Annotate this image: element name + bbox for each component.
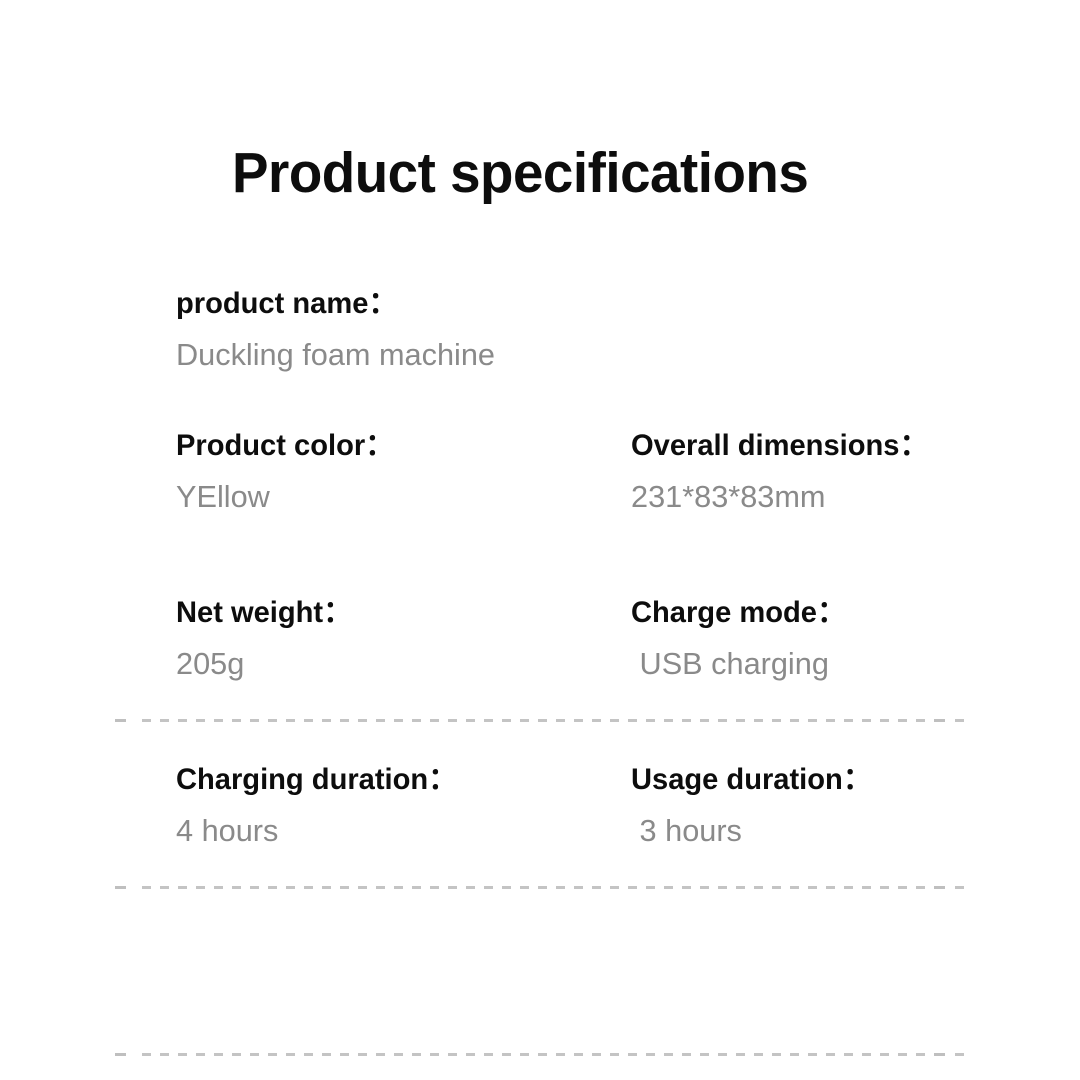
spec-label-text: product name: [176, 287, 368, 320]
divider-dash-lead: [115, 1053, 126, 1056]
spec-value: Duckling foam machine: [176, 339, 622, 370]
label-colon: ：: [817, 596, 844, 629]
divider-dash-main: [142, 1053, 932, 1056]
spec-row: Charging duration： 4 hours Usage duratio…: [0, 765, 1080, 932]
spec-value: YEllow: [176, 481, 622, 512]
spec-label-text: Usage duration: [631, 763, 843, 796]
label-colon: ：: [365, 429, 392, 462]
spec-cell-charging-duration: Charging duration： 4 hours: [176, 765, 626, 846]
spec-label-text: Product color: [176, 429, 365, 462]
divider-dash-tail-a: [934, 1053, 945, 1056]
spec-row: Net weight： 205g Charge mode： USB chargi…: [0, 598, 1080, 765]
label-colon: ：: [843, 763, 870, 796]
product-specifications-page: Product specifications product name： Duc…: [0, 0, 1080, 1080]
spec-value: 205g: [176, 648, 622, 679]
row-divider: [0, 1053, 1080, 1056]
label-colon: ：: [899, 429, 926, 462]
spec-value: 231*83*83mm: [631, 481, 1047, 512]
spec-row: product name： Duckling foam machine: [0, 289, 1080, 431]
label-colon: ：: [368, 287, 395, 320]
spec-label: Overall dimensions：: [631, 431, 1038, 461]
spec-label-text: Net weight: [176, 596, 323, 629]
spec-label: Product color：: [176, 431, 613, 461]
spec-value: 4 hours: [176, 815, 622, 846]
specifications-table: product name： Duckling foam machine Prod…: [0, 289, 1080, 932]
spec-cell-charge-mode: Charge mode： USB charging: [631, 598, 1051, 679]
spec-value: USB charging: [631, 648, 1047, 679]
spec-label-text: Charging duration: [176, 763, 428, 796]
spec-cell-product-name: product name： Duckling foam machine: [176, 289, 626, 370]
label-colon: ：: [428, 763, 455, 796]
spec-label: Charge mode：: [631, 598, 1038, 628]
spec-label-text: Overall dimensions: [631, 429, 899, 462]
spec-label: Usage duration：: [631, 765, 1038, 795]
page-title: Product specifications: [232, 142, 808, 205]
spec-row: Product color： YEllow Overall dimensions…: [0, 431, 1080, 598]
label-colon: ：: [323, 596, 350, 629]
spec-value: 3 hours: [631, 815, 1047, 846]
divider-dash-tail-b: [955, 1053, 964, 1056]
spec-label: Charging duration：: [176, 765, 613, 795]
spec-cell-overall-dimensions: Overall dimensions： 231*83*83mm: [631, 431, 1051, 512]
spec-cell-product-color: Product color： YEllow: [176, 431, 626, 512]
spec-label: Net weight：: [176, 598, 613, 628]
spec-label-text: Charge mode: [631, 596, 817, 629]
spec-label: product name：: [176, 289, 613, 319]
spec-cell-net-weight: Net weight： 205g: [176, 598, 626, 679]
spec-cell-usage-duration: Usage duration： 3 hours: [631, 765, 1051, 846]
